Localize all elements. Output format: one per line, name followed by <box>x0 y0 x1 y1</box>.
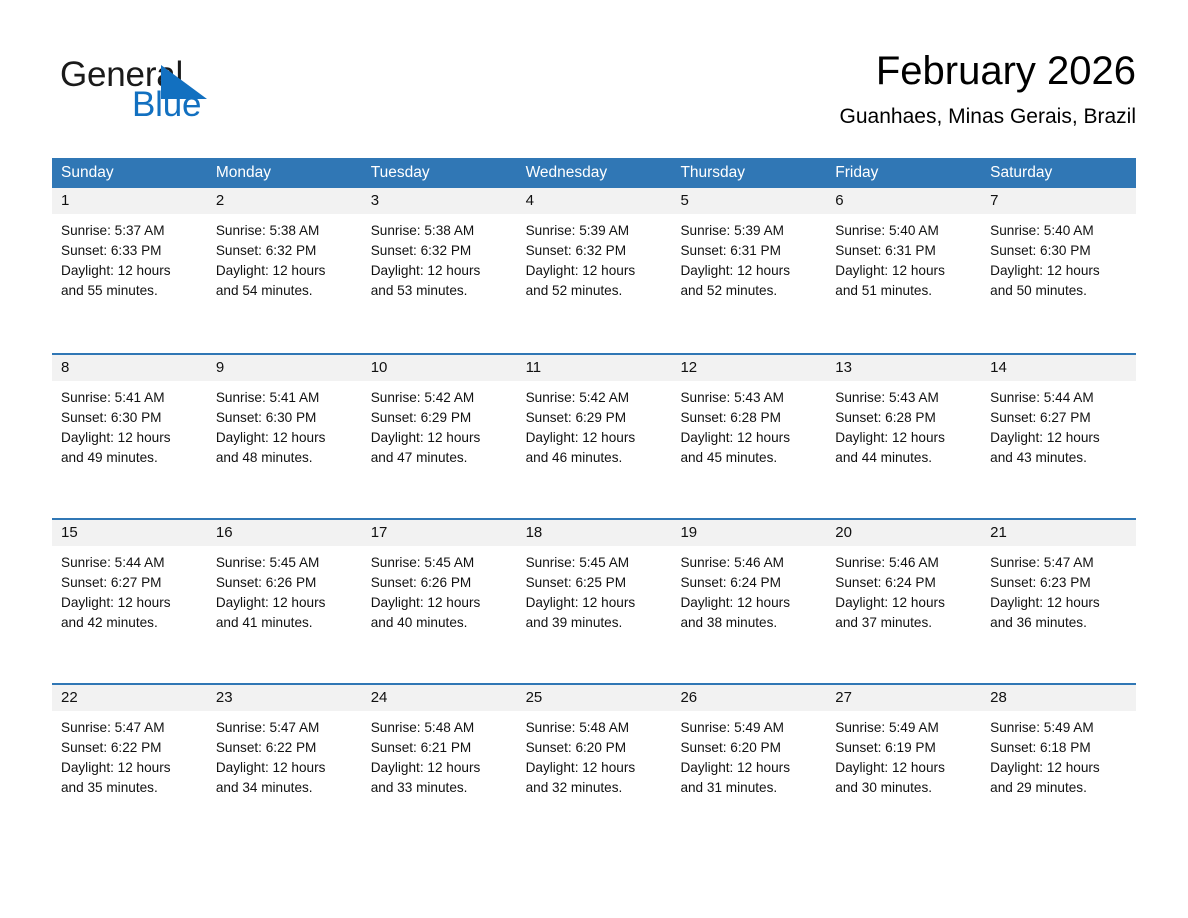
sunset-text: Sunset: 6:27 PM <box>990 408 1127 428</box>
day-number-band: 11 <box>517 355 672 381</box>
day-cell-12[interactable]: 12Sunrise: 5:43 AMSunset: 6:28 PMDayligh… <box>671 355 826 518</box>
sunrise-text: Sunrise: 5:42 AM <box>526 388 663 408</box>
daylight-text-line1: Daylight: 12 hours <box>371 593 508 613</box>
daylight-text-line1: Daylight: 12 hours <box>61 428 198 448</box>
day-details: Sunrise: 5:38 AMSunset: 6:32 PMDaylight:… <box>207 214 362 301</box>
sunrise-text: Sunrise: 5:48 AM <box>371 718 508 738</box>
sunset-text: Sunset: 6:31 PM <box>680 241 817 261</box>
day-details: Sunrise: 5:43 AMSunset: 6:28 PMDaylight:… <box>826 381 981 468</box>
daylight-text-line2: and 42 minutes. <box>61 613 198 633</box>
calendar-week-row: 15Sunrise: 5:44 AMSunset: 6:27 PMDayligh… <box>52 518 1136 683</box>
day-number-band: 6 <box>826 188 981 214</box>
day-details: Sunrise: 5:42 AMSunset: 6:29 PMDaylight:… <box>517 381 672 468</box>
day-number-band: 21 <box>981 520 1136 546</box>
daylight-text-line2: and 40 minutes. <box>371 613 508 633</box>
general-blue-logo: General Blue <box>60 56 260 132</box>
day-cell-9[interactable]: 9Sunrise: 5:41 AMSunset: 6:30 PMDaylight… <box>207 355 362 518</box>
sunrise-text: Sunrise: 5:39 AM <box>526 221 663 241</box>
weekday-header-sunday: Sunday <box>52 158 207 188</box>
daylight-text-line2: and 46 minutes. <box>526 448 663 468</box>
day-number-band: 3 <box>362 188 517 214</box>
daylight-text-line2: and 50 minutes. <box>990 281 1127 301</box>
daylight-text-line1: Daylight: 12 hours <box>526 261 663 281</box>
day-number: 22 <box>52 685 207 711</box>
day-cell-21[interactable]: 21Sunrise: 5:47 AMSunset: 6:23 PMDayligh… <box>981 520 1136 683</box>
page-title: February 2026 <box>840 46 1136 96</box>
sunrise-text: Sunrise: 5:49 AM <box>680 718 817 738</box>
day-number-band: 1 <box>52 188 207 214</box>
sunset-text: Sunset: 6:27 PM <box>61 573 198 593</box>
weekday-header-wednesday: Wednesday <box>517 158 672 188</box>
daylight-text-line1: Daylight: 12 hours <box>835 261 972 281</box>
day-details: Sunrise: 5:37 AMSunset: 6:33 PMDaylight:… <box>52 214 207 301</box>
day-number: 28 <box>981 685 1136 711</box>
daylight-text-line2: and 43 minutes. <box>990 448 1127 468</box>
day-cell-17[interactable]: 17Sunrise: 5:45 AMSunset: 6:26 PMDayligh… <box>362 520 517 683</box>
sunset-text: Sunset: 6:23 PM <box>990 573 1127 593</box>
day-number: 11 <box>517 355 672 381</box>
day-number-band: 9 <box>207 355 362 381</box>
day-number: 2 <box>207 188 362 214</box>
daylight-text-line2: and 51 minutes. <box>835 281 972 301</box>
day-cell-28[interactable]: 28Sunrise: 5:49 AMSunset: 6:18 PMDayligh… <box>981 685 1136 848</box>
sunset-text: Sunset: 6:30 PM <box>990 241 1127 261</box>
sunrise-text: Sunrise: 5:40 AM <box>835 221 972 241</box>
daylight-text-line2: and 52 minutes. <box>526 281 663 301</box>
day-details: Sunrise: 5:47 AMSunset: 6:22 PMDaylight:… <box>207 711 362 798</box>
sunrise-text: Sunrise: 5:38 AM <box>371 221 508 241</box>
daylight-text-line2: and 48 minutes. <box>216 448 353 468</box>
sunrise-text: Sunrise: 5:48 AM <box>526 718 663 738</box>
weekday-header-tuesday: Tuesday <box>362 158 517 188</box>
sunrise-text: Sunrise: 5:49 AM <box>835 718 972 738</box>
sunrise-text: Sunrise: 5:44 AM <box>990 388 1127 408</box>
daylight-text-line2: and 33 minutes. <box>371 778 508 798</box>
sunrise-text: Sunrise: 5:45 AM <box>216 553 353 573</box>
daylight-text-line1: Daylight: 12 hours <box>216 428 353 448</box>
day-details: Sunrise: 5:40 AMSunset: 6:31 PMDaylight:… <box>826 214 981 301</box>
day-number-band: 15 <box>52 520 207 546</box>
day-number: 14 <box>981 355 1136 381</box>
sunset-text: Sunset: 6:32 PM <box>371 241 508 261</box>
sunset-text: Sunset: 6:21 PM <box>371 738 508 758</box>
day-cell-5[interactable]: 5Sunrise: 5:39 AMSunset: 6:31 PMDaylight… <box>671 188 826 353</box>
day-number-band: 19 <box>671 520 826 546</box>
sunrise-text: Sunrise: 5:47 AM <box>216 718 353 738</box>
daylight-text-line2: and 41 minutes. <box>216 613 353 633</box>
daylight-text-line2: and 53 minutes. <box>371 281 508 301</box>
sunset-text: Sunset: 6:19 PM <box>835 738 972 758</box>
day-cell-11[interactable]: 11Sunrise: 5:42 AMSunset: 6:29 PMDayligh… <box>517 355 672 518</box>
sunrise-text: Sunrise: 5:42 AM <box>371 388 508 408</box>
day-number: 20 <box>826 520 981 546</box>
day-number-band: 20 <box>826 520 981 546</box>
sunset-text: Sunset: 6:30 PM <box>216 408 353 428</box>
sunset-text: Sunset: 6:20 PM <box>680 738 817 758</box>
sunset-text: Sunset: 6:25 PM <box>526 573 663 593</box>
day-details: Sunrise: 5:39 AMSunset: 6:32 PMDaylight:… <box>517 214 672 301</box>
day-details: Sunrise: 5:48 AMSunset: 6:21 PMDaylight:… <box>362 711 517 798</box>
day-cell-3[interactable]: 3Sunrise: 5:38 AMSunset: 6:32 PMDaylight… <box>362 188 517 353</box>
day-details: Sunrise: 5:44 AMSunset: 6:27 PMDaylight:… <box>981 381 1136 468</box>
daylight-text-line1: Daylight: 12 hours <box>990 428 1127 448</box>
daylight-text-line1: Daylight: 12 hours <box>216 758 353 778</box>
sunset-text: Sunset: 6:24 PM <box>680 573 817 593</box>
weekday-header-friday: Friday <box>826 158 981 188</box>
day-details: Sunrise: 5:43 AMSunset: 6:28 PMDaylight:… <box>671 381 826 468</box>
day-details: Sunrise: 5:42 AMSunset: 6:29 PMDaylight:… <box>362 381 517 468</box>
day-number-band: 12 <box>671 355 826 381</box>
day-number: 5 <box>671 188 826 214</box>
sunrise-text: Sunrise: 5:41 AM <box>61 388 198 408</box>
sunset-text: Sunset: 6:22 PM <box>61 738 198 758</box>
daylight-text-line2: and 54 minutes. <box>216 281 353 301</box>
daylight-text-line2: and 52 minutes. <box>680 281 817 301</box>
day-number: 10 <box>362 355 517 381</box>
day-cell-14[interactable]: 14Sunrise: 5:44 AMSunset: 6:27 PMDayligh… <box>981 355 1136 518</box>
sunset-text: Sunset: 6:26 PM <box>216 573 353 593</box>
day-details: Sunrise: 5:39 AMSunset: 6:31 PMDaylight:… <box>671 214 826 301</box>
sunset-text: Sunset: 6:32 PM <box>216 241 353 261</box>
daylight-text-line1: Daylight: 12 hours <box>835 758 972 778</box>
daylight-text-line1: Daylight: 12 hours <box>371 261 508 281</box>
day-details: Sunrise: 5:45 AMSunset: 6:26 PMDaylight:… <box>207 546 362 633</box>
calendar-week-row: 1Sunrise: 5:37 AMSunset: 6:33 PMDaylight… <box>52 188 1136 353</box>
day-details: Sunrise: 5:38 AMSunset: 6:32 PMDaylight:… <box>362 214 517 301</box>
daylight-text-line1: Daylight: 12 hours <box>526 758 663 778</box>
sunset-text: Sunset: 6:24 PM <box>835 573 972 593</box>
day-details: Sunrise: 5:46 AMSunset: 6:24 PMDaylight:… <box>671 546 826 633</box>
daylight-text-line2: and 36 minutes. <box>990 613 1127 633</box>
sunrise-text: Sunrise: 5:43 AM <box>835 388 972 408</box>
sunrise-text: Sunrise: 5:45 AM <box>526 553 663 573</box>
day-cell-26[interactable]: 26Sunrise: 5:49 AMSunset: 6:20 PMDayligh… <box>671 685 826 848</box>
day-number-band: 8 <box>52 355 207 381</box>
day-cell-4[interactable]: 4Sunrise: 5:39 AMSunset: 6:32 PMDaylight… <box>517 188 672 353</box>
daylight-text-line1: Daylight: 12 hours <box>526 593 663 613</box>
day-number: 8 <box>52 355 207 381</box>
weekday-header-row: SundayMondayTuesdayWednesdayThursdayFrid… <box>52 158 1136 188</box>
daylight-text-line1: Daylight: 12 hours <box>680 261 817 281</box>
day-number: 24 <box>362 685 517 711</box>
daylight-text-line2: and 45 minutes. <box>680 448 817 468</box>
sunset-text: Sunset: 6:26 PM <box>371 573 508 593</box>
day-number: 23 <box>207 685 362 711</box>
sunrise-text: Sunrise: 5:46 AM <box>835 553 972 573</box>
day-cell-20[interactable]: 20Sunrise: 5:46 AMSunset: 6:24 PMDayligh… <box>826 520 981 683</box>
daylight-text-line1: Daylight: 12 hours <box>61 758 198 778</box>
daylight-text-line1: Daylight: 12 hours <box>216 261 353 281</box>
day-cell-23[interactable]: 23Sunrise: 5:47 AMSunset: 6:22 PMDayligh… <box>207 685 362 848</box>
sunrise-text: Sunrise: 5:38 AM <box>216 221 353 241</box>
day-number: 1 <box>52 188 207 214</box>
day-number: 15 <box>52 520 207 546</box>
day-cell-22[interactable]: 22Sunrise: 5:47 AMSunset: 6:22 PMDayligh… <box>52 685 207 848</box>
weekday-header-thursday: Thursday <box>671 158 826 188</box>
daylight-text-line2: and 39 minutes. <box>526 613 663 633</box>
day-cell-7[interactable]: 7Sunrise: 5:40 AMSunset: 6:30 PMDaylight… <box>981 188 1136 353</box>
day-number-band: 2 <box>207 188 362 214</box>
sunset-text: Sunset: 6:33 PM <box>61 241 198 261</box>
daylight-text-line1: Daylight: 12 hours <box>990 261 1127 281</box>
calendar-week-row: 22Sunrise: 5:47 AMSunset: 6:22 PMDayligh… <box>52 683 1136 848</box>
day-cell-16[interactable]: 16Sunrise: 5:45 AMSunset: 6:26 PMDayligh… <box>207 520 362 683</box>
day-cell-13[interactable]: 13Sunrise: 5:43 AMSunset: 6:28 PMDayligh… <box>826 355 981 518</box>
day-number: 13 <box>826 355 981 381</box>
calendar-table: SundayMondayTuesdayWednesdayThursdayFrid… <box>52 158 1136 848</box>
sunset-text: Sunset: 6:32 PM <box>526 241 663 261</box>
day-number: 16 <box>207 520 362 546</box>
day-number-band: 10 <box>362 355 517 381</box>
day-cell-19[interactable]: 19Sunrise: 5:46 AMSunset: 6:24 PMDayligh… <box>671 520 826 683</box>
day-cell-25[interactable]: 25Sunrise: 5:48 AMSunset: 6:20 PMDayligh… <box>517 685 672 848</box>
calendar-body: 1Sunrise: 5:37 AMSunset: 6:33 PMDaylight… <box>52 188 1136 848</box>
day-cell-6[interactable]: 6Sunrise: 5:40 AMSunset: 6:31 PMDaylight… <box>826 188 981 353</box>
daylight-text-line1: Daylight: 12 hours <box>526 428 663 448</box>
day-details: Sunrise: 5:47 AMSunset: 6:22 PMDaylight:… <box>52 711 207 798</box>
daylight-text-line2: and 30 minutes. <box>835 778 972 798</box>
day-number-band: 4 <box>517 188 672 214</box>
day-details: Sunrise: 5:47 AMSunset: 6:23 PMDaylight:… <box>981 546 1136 633</box>
daylight-text-line2: and 31 minutes. <box>680 778 817 798</box>
weekday-header-saturday: Saturday <box>981 158 1136 188</box>
sunset-text: Sunset: 6:20 PM <box>526 738 663 758</box>
day-number: 7 <box>981 188 1136 214</box>
sunrise-text: Sunrise: 5:49 AM <box>990 718 1127 738</box>
sunset-text: Sunset: 6:31 PM <box>835 241 972 261</box>
weekday-header-monday: Monday <box>207 158 362 188</box>
day-number-band: 13 <box>826 355 981 381</box>
page-header: General Blue February 2026 Guanhaes, Min… <box>52 46 1136 146</box>
day-number: 9 <box>207 355 362 381</box>
sunrise-text: Sunrise: 5:47 AM <box>61 718 198 738</box>
day-cell-10[interactable]: 10Sunrise: 5:42 AMSunset: 6:29 PMDayligh… <box>362 355 517 518</box>
sunset-text: Sunset: 6:29 PM <box>371 408 508 428</box>
day-number: 18 <box>517 520 672 546</box>
daylight-text-line1: Daylight: 12 hours <box>990 758 1127 778</box>
day-number-band: 7 <box>981 188 1136 214</box>
sunrise-text: Sunrise: 5:37 AM <box>61 221 198 241</box>
day-number: 27 <box>826 685 981 711</box>
logo-text-blue: Blue <box>132 86 201 124</box>
sunset-text: Sunset: 6:18 PM <box>990 738 1127 758</box>
calendar-page: General Blue February 2026 Guanhaes, Min… <box>0 0 1188 918</box>
day-details: Sunrise: 5:41 AMSunset: 6:30 PMDaylight:… <box>207 381 362 468</box>
daylight-text-line1: Daylight: 12 hours <box>61 261 198 281</box>
sunrise-text: Sunrise: 5:40 AM <box>990 221 1127 241</box>
day-cell-18[interactable]: 18Sunrise: 5:45 AMSunset: 6:25 PMDayligh… <box>517 520 672 683</box>
sunset-text: Sunset: 6:28 PM <box>835 408 972 428</box>
sunset-text: Sunset: 6:28 PM <box>680 408 817 428</box>
day-number-band: 16 <box>207 520 362 546</box>
day-details: Sunrise: 5:49 AMSunset: 6:20 PMDaylight:… <box>671 711 826 798</box>
day-number-band: 25 <box>517 685 672 711</box>
sunset-text: Sunset: 6:30 PM <box>61 408 198 428</box>
day-number: 6 <box>826 188 981 214</box>
day-cell-24[interactable]: 24Sunrise: 5:48 AMSunset: 6:21 PMDayligh… <box>362 685 517 848</box>
day-number-band: 22 <box>52 685 207 711</box>
day-number: 12 <box>671 355 826 381</box>
day-number-band: 24 <box>362 685 517 711</box>
day-cell-15[interactable]: 15Sunrise: 5:44 AMSunset: 6:27 PMDayligh… <box>52 520 207 683</box>
sunrise-text: Sunrise: 5:47 AM <box>990 553 1127 573</box>
day-details: Sunrise: 5:40 AMSunset: 6:30 PMDaylight:… <box>981 214 1136 301</box>
day-cell-1[interactable]: 1Sunrise: 5:37 AMSunset: 6:33 PMDaylight… <box>52 188 207 353</box>
daylight-text-line2: and 37 minutes. <box>835 613 972 633</box>
sunrise-text: Sunrise: 5:43 AM <box>680 388 817 408</box>
day-cell-27[interactable]: 27Sunrise: 5:49 AMSunset: 6:19 PMDayligh… <box>826 685 981 848</box>
sunrise-text: Sunrise: 5:45 AM <box>371 553 508 573</box>
daylight-text-line1: Daylight: 12 hours <box>835 593 972 613</box>
day-number: 26 <box>671 685 826 711</box>
day-number-band: 28 <box>981 685 1136 711</box>
day-number: 21 <box>981 520 1136 546</box>
calendar-week-row: 8Sunrise: 5:41 AMSunset: 6:30 PMDaylight… <box>52 353 1136 518</box>
day-number-band: 18 <box>517 520 672 546</box>
daylight-text-line1: Daylight: 12 hours <box>680 428 817 448</box>
sunrise-text: Sunrise: 5:46 AM <box>680 553 817 573</box>
daylight-text-line1: Daylight: 12 hours <box>680 593 817 613</box>
daylight-text-line2: and 35 minutes. <box>61 778 198 798</box>
daylight-text-line2: and 55 minutes. <box>61 281 198 301</box>
day-details: Sunrise: 5:41 AMSunset: 6:30 PMDaylight:… <box>52 381 207 468</box>
day-number-band: 23 <box>207 685 362 711</box>
sunrise-text: Sunrise: 5:41 AM <box>216 388 353 408</box>
daylight-text-line1: Daylight: 12 hours <box>835 428 972 448</box>
sunset-text: Sunset: 6:29 PM <box>526 408 663 428</box>
day-number-band: 26 <box>671 685 826 711</box>
day-number-band: 5 <box>671 188 826 214</box>
daylight-text-line2: and 47 minutes. <box>371 448 508 468</box>
daylight-text-line2: and 32 minutes. <box>526 778 663 798</box>
daylight-text-line1: Daylight: 12 hours <box>990 593 1127 613</box>
title-block: February 2026 Guanhaes, Minas Gerais, Br… <box>840 46 1136 131</box>
daylight-text-line2: and 34 minutes. <box>216 778 353 798</box>
day-details: Sunrise: 5:45 AMSunset: 6:26 PMDaylight:… <box>362 546 517 633</box>
day-cell-8[interactable]: 8Sunrise: 5:41 AMSunset: 6:30 PMDaylight… <box>52 355 207 518</box>
day-details: Sunrise: 5:48 AMSunset: 6:20 PMDaylight:… <box>517 711 672 798</box>
day-cell-2[interactable]: 2Sunrise: 5:38 AMSunset: 6:32 PMDaylight… <box>207 188 362 353</box>
day-number-band: 27 <box>826 685 981 711</box>
daylight-text-line1: Daylight: 12 hours <box>61 593 198 613</box>
daylight-text-line2: and 38 minutes. <box>680 613 817 633</box>
day-number-band: 17 <box>362 520 517 546</box>
daylight-text-line2: and 49 minutes. <box>61 448 198 468</box>
day-details: Sunrise: 5:45 AMSunset: 6:25 PMDaylight:… <box>517 546 672 633</box>
day-number-band: 14 <box>981 355 1136 381</box>
daylight-text-line1: Daylight: 12 hours <box>371 758 508 778</box>
daylight-text-line1: Daylight: 12 hours <box>371 428 508 448</box>
day-details: Sunrise: 5:44 AMSunset: 6:27 PMDaylight:… <box>52 546 207 633</box>
day-number: 3 <box>362 188 517 214</box>
day-number: 17 <box>362 520 517 546</box>
day-details: Sunrise: 5:49 AMSunset: 6:18 PMDaylight:… <box>981 711 1136 798</box>
daylight-text-line1: Daylight: 12 hours <box>216 593 353 613</box>
page-subtitle: Guanhaes, Minas Gerais, Brazil <box>840 103 1136 131</box>
daylight-text-line2: and 29 minutes. <box>990 778 1127 798</box>
day-number: 25 <box>517 685 672 711</box>
day-details: Sunrise: 5:46 AMSunset: 6:24 PMDaylight:… <box>826 546 981 633</box>
sunset-text: Sunset: 6:22 PM <box>216 738 353 758</box>
daylight-text-line1: Daylight: 12 hours <box>680 758 817 778</box>
day-number: 4 <box>517 188 672 214</box>
day-number: 19 <box>671 520 826 546</box>
daylight-text-line2: and 44 minutes. <box>835 448 972 468</box>
day-details: Sunrise: 5:49 AMSunset: 6:19 PMDaylight:… <box>826 711 981 798</box>
sunrise-text: Sunrise: 5:39 AM <box>680 221 817 241</box>
sunrise-text: Sunrise: 5:44 AM <box>61 553 198 573</box>
